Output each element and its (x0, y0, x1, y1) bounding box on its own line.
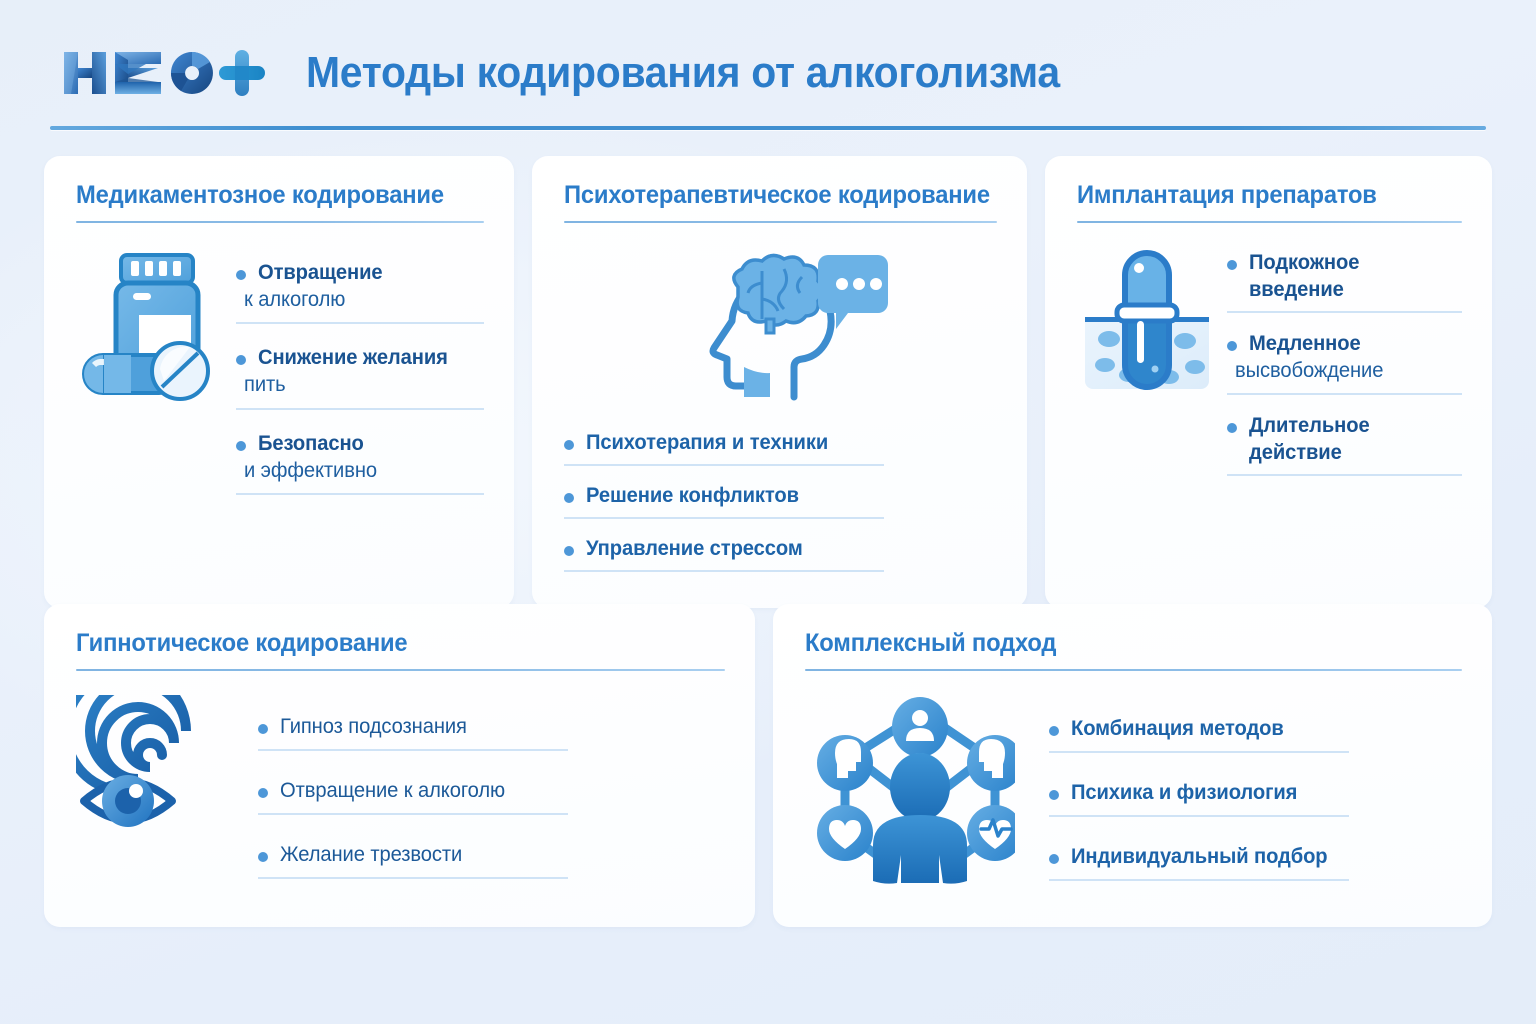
bullet-line-2: и эффективно (244, 457, 474, 484)
bullet-list-psychotherapy: Психотерапия и техники Решение конфликто… (564, 429, 884, 589)
neo-plus-logo-icon (58, 44, 266, 102)
bullet-line-1: Решение конфликтов (586, 482, 872, 509)
bullet-line-1: Гипноз подсознания (280, 713, 556, 740)
card-psychotherapy[interactable]: Психотерапевтическое кодирование (532, 156, 1027, 608)
list-item[interactable]: Решение конфликтов (564, 482, 884, 519)
capsule-implant-icon-wrap (1077, 241, 1217, 412)
list-item[interactable]: Отвращение к алкоголю (236, 259, 484, 325)
bullet-line-1: Отвращение к алкоголю (280, 777, 556, 804)
person-network-icon (805, 695, 1015, 885)
bullet-line-2: пить (244, 371, 474, 398)
bullet-list-implantation: Подкожное введение Медленное высвобожден… (1227, 249, 1462, 494)
person-network-icon-wrap (805, 689, 1015, 885)
list-item[interactable]: Гипноз подсознания (258, 713, 568, 751)
list-item[interactable]: Медленное высвобождение (1227, 330, 1462, 395)
card-title-divider (564, 221, 997, 223)
bullet-list-medication: Отвращение к алкоголю Снижение желания п… (236, 259, 484, 516)
bullet-line-1: Индивидуальный подбор (1071, 843, 1338, 870)
card-hypnosis[interactable]: Гипнотическое кодирование (44, 604, 755, 927)
bullet-line-1: Желание трезвости (280, 841, 556, 868)
list-item[interactable]: Безопасно и эффективно (236, 430, 484, 496)
infographic-page: Методы кодирования от алкоголизма Медика… (0, 0, 1536, 1024)
head-left-node-icon (817, 735, 873, 791)
list-item[interactable]: Индивидуальный подбор (1049, 843, 1349, 881)
bullet-line-1: Комбинация методов (1071, 715, 1338, 742)
list-item[interactable]: Психотерапия и техники (564, 429, 884, 466)
card-title-psychotherapy: Психотерапевтическое кодирование (564, 182, 975, 210)
bullet-line-1: Подкожное введение (1249, 249, 1453, 304)
bullet-line-1: Снижение желания (258, 344, 475, 371)
bullet-line-1: Психика и физиология (1071, 779, 1338, 806)
list-item[interactable]: Комбинация методов (1049, 715, 1349, 753)
bullet-line-1: Управление стрессом (586, 535, 872, 562)
pill-bottle-icon-wrap (76, 241, 226, 407)
capsule-implant-icon (1077, 247, 1217, 412)
card-title-divider (805, 669, 1462, 671)
head-brain-speech-icon (666, 241, 896, 411)
list-item[interactable]: Длительное действие (1227, 412, 1462, 477)
head-brain-speech-icon-wrap (564, 241, 997, 411)
bullet-line-2: высвобождение (1235, 357, 1453, 384)
pill-bottle-icon (76, 247, 226, 407)
cards-row-top: Медикаментозное кодирование (44, 156, 1492, 586)
bullet-line-1: Длительное действие (1249, 412, 1453, 467)
page-header: Методы кодирования от алкоголизма (44, 34, 1492, 112)
card-title-divider (76, 669, 725, 671)
bullet-line-1: Отвращение (258, 259, 475, 286)
list-item[interactable]: Подкожное введение (1227, 249, 1462, 314)
center-person-icon (873, 753, 967, 884)
hypnosis-eye-spiral-icon (76, 695, 236, 845)
list-item[interactable]: Снижение желания пить (236, 344, 484, 410)
page-title: Методы кодирования от алкоголизма (306, 51, 1060, 95)
bullet-list-hypnosis: Гипноз подсознания Отвращение к алкоголю… (258, 713, 568, 906)
list-item[interactable]: Психика и физиология (1049, 779, 1349, 817)
hypnosis-eye-spiral-icon-wrap (76, 689, 236, 845)
card-title-complex-approach: Комплексный подход (805, 630, 1429, 658)
list-item[interactable]: Управление стрессом (564, 535, 884, 572)
card-title-hypnosis: Гипнотическое кодирование (76, 630, 693, 658)
list-item[interactable]: Желание трезвости (258, 841, 568, 879)
bullet-list-complex-approach: Комбинация методов Психика и физиология … (1049, 715, 1349, 908)
card-implantation[interactable]: Имплантация препаратов (1045, 156, 1492, 608)
card-medication[interactable]: Медикаментозное кодирование (44, 156, 514, 608)
bullet-line-2: к алкоголю (244, 286, 474, 313)
bullet-line-1: Безопасно (258, 430, 475, 457)
heart-node-icon (817, 805, 873, 861)
card-complex-approach[interactable]: Комплексный подход (773, 604, 1492, 927)
card-title-divider (76, 221, 484, 223)
bullet-line-1: Психотерапия и техники (586, 429, 872, 456)
bullet-line-1: Медленное (1249, 330, 1453, 357)
list-item[interactable]: Отвращение к алкоголю (258, 777, 568, 815)
card-title-implantation: Имплантация препаратов (1077, 182, 1443, 210)
cards-row-bottom: Гипнотическое кодирование (44, 604, 1492, 924)
card-title-divider (1077, 221, 1462, 223)
card-title-medication: Медикаментозное кодирование (76, 182, 464, 210)
header-divider (50, 126, 1486, 130)
